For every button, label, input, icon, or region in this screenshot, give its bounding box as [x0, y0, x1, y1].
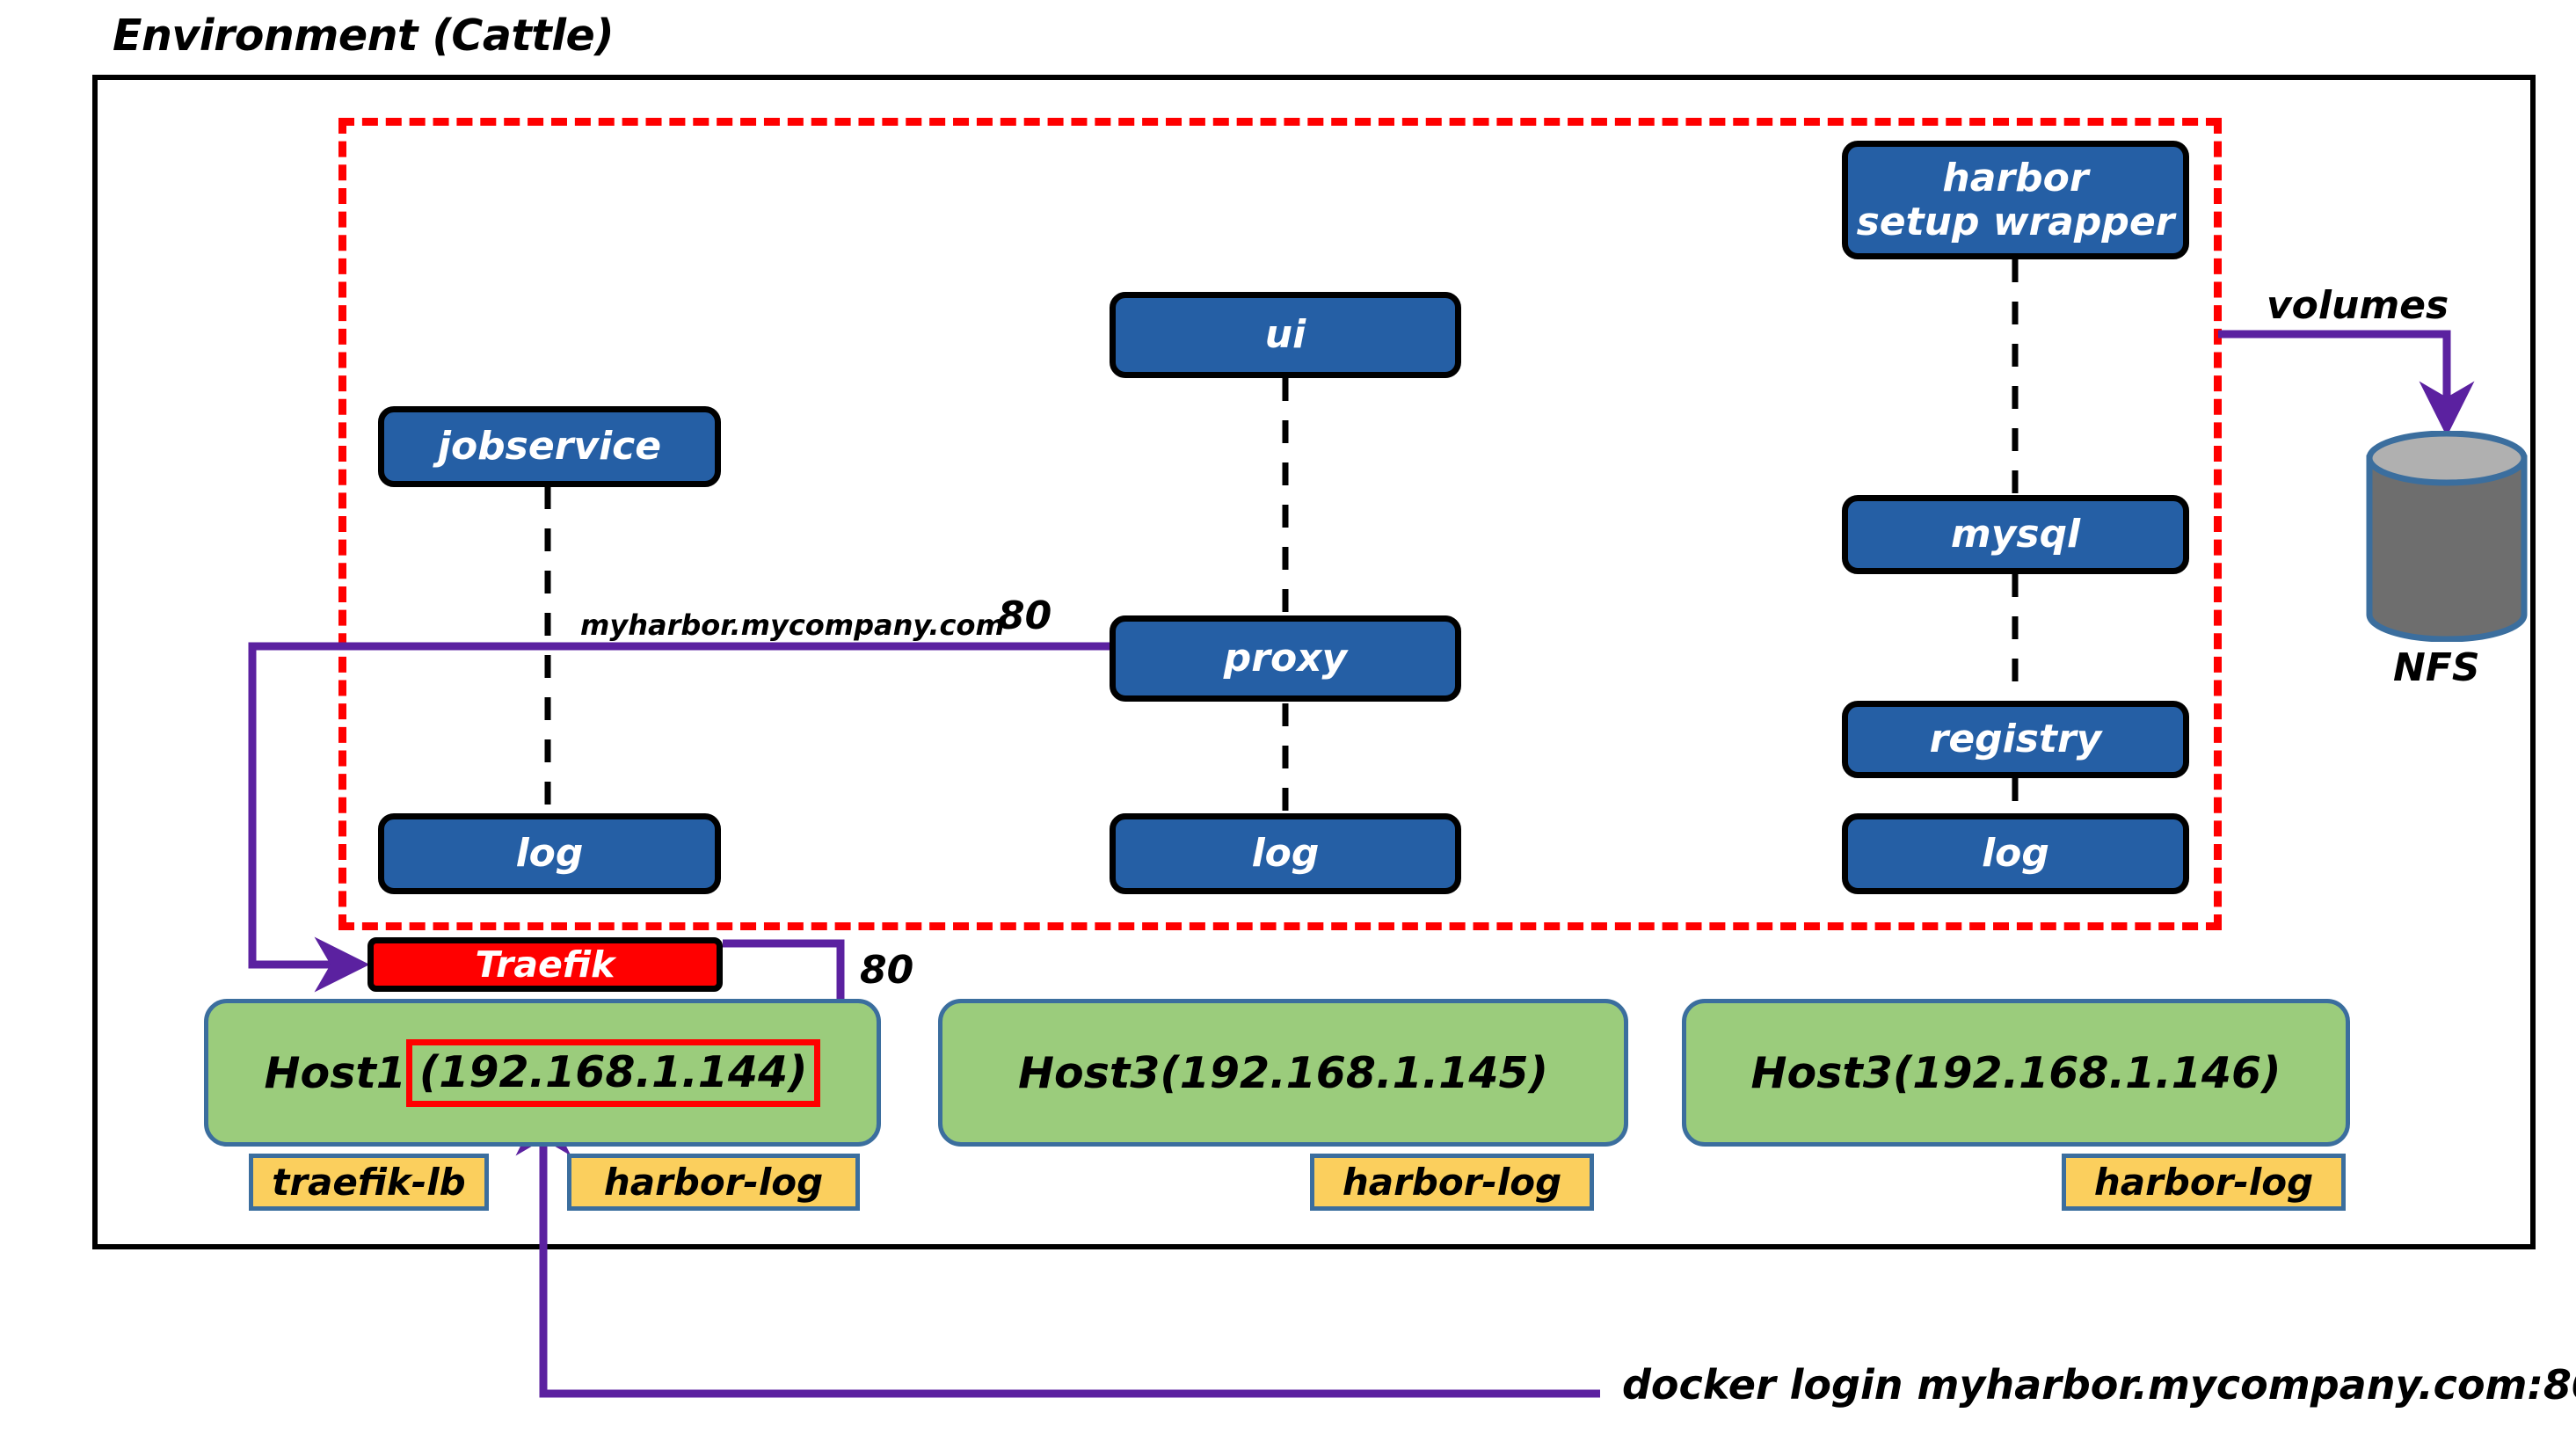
service-label: mysql [1951, 513, 2080, 556]
host-name: Host3 [1018, 1048, 1160, 1098]
stack-label-harbor-log-1[interactable]: harbor-log [567, 1154, 860, 1211]
service-label: jobservice [438, 425, 661, 468]
host-ip-highlight: (192.168.1.144) [406, 1039, 821, 1107]
nfs-cylinder [2365, 431, 2529, 642]
traefik-box[interactable]: Traefik [367, 937, 723, 992]
service-box-registry[interactable]: registry [1842, 701, 2189, 778]
service-box-jobservice[interactable]: jobservice [378, 406, 721, 487]
service-box-log-left[interactable]: log [378, 813, 721, 894]
service-label: log [1252, 832, 1320, 875]
traefik-label: Traefik [476, 943, 615, 986]
annotation-port-proxy: 80 [998, 593, 1052, 638]
service-box-proxy[interactable]: proxy [1110, 615, 1461, 702]
host-ip: (192.168.1.145) [1160, 1048, 1548, 1098]
service-label: harbor setup wrapper [1857, 157, 2175, 244]
service-label: log [516, 832, 584, 875]
environment-title: Environment (Cattle) [113, 11, 614, 61]
service-box-harbor-setup-wrapper[interactable]: harbor setup wrapper [1842, 141, 2189, 259]
annotation-docker-login: docker login myharbor.mycompany.com:80 [1622, 1361, 2576, 1409]
annotation-port-traefik: 80 [860, 948, 913, 993]
service-box-ui[interactable]: ui [1110, 292, 1461, 378]
annotation-domain: myharbor.mycompany.com [580, 608, 1005, 642]
service-box-log-right[interactable]: log [1842, 813, 2189, 894]
nfs-cylinder-top [2369, 433, 2524, 483]
host-box-host1[interactable]: Host1 (192.168.1.144) [204, 999, 881, 1147]
host-box-host3[interactable]: Host3 (192.168.1.146) [1682, 999, 2350, 1147]
stack-label-harbor-log-2[interactable]: harbor-log [1310, 1154, 1594, 1211]
stack-label-traefik-lb[interactable]: traefik-lb [249, 1154, 489, 1211]
diagram-canvas: Environment (Cattle) jobservice [0, 0, 2576, 1449]
stack-label-text: harbor-log [2094, 1161, 2313, 1204]
host-box-host2[interactable]: Host3 (192.168.1.145) [938, 999, 1628, 1147]
service-box-log-middle[interactable]: log [1110, 813, 1461, 894]
service-label: log [1982, 832, 2049, 875]
host-name: Host3 [1751, 1048, 1893, 1098]
stack-label-text: harbor-log [604, 1161, 823, 1204]
service-label: proxy [1224, 637, 1348, 680]
host-ip: (192.168.1.146) [1893, 1048, 2281, 1098]
annotation-volumes: volumes [2267, 283, 2449, 328]
service-label: ui [1265, 313, 1306, 356]
stack-label-harbor-log-3[interactable]: harbor-log [2062, 1154, 2346, 1211]
service-box-mysql[interactable]: mysql [1842, 495, 2189, 574]
annotation-nfs-label: NFS [2393, 645, 2480, 690]
stack-label-text: harbor-log [1343, 1161, 1561, 1204]
host-name: Host1 [265, 1048, 406, 1098]
service-label: registry [1930, 717, 2102, 761]
stack-label-text: traefik-lb [272, 1161, 466, 1204]
